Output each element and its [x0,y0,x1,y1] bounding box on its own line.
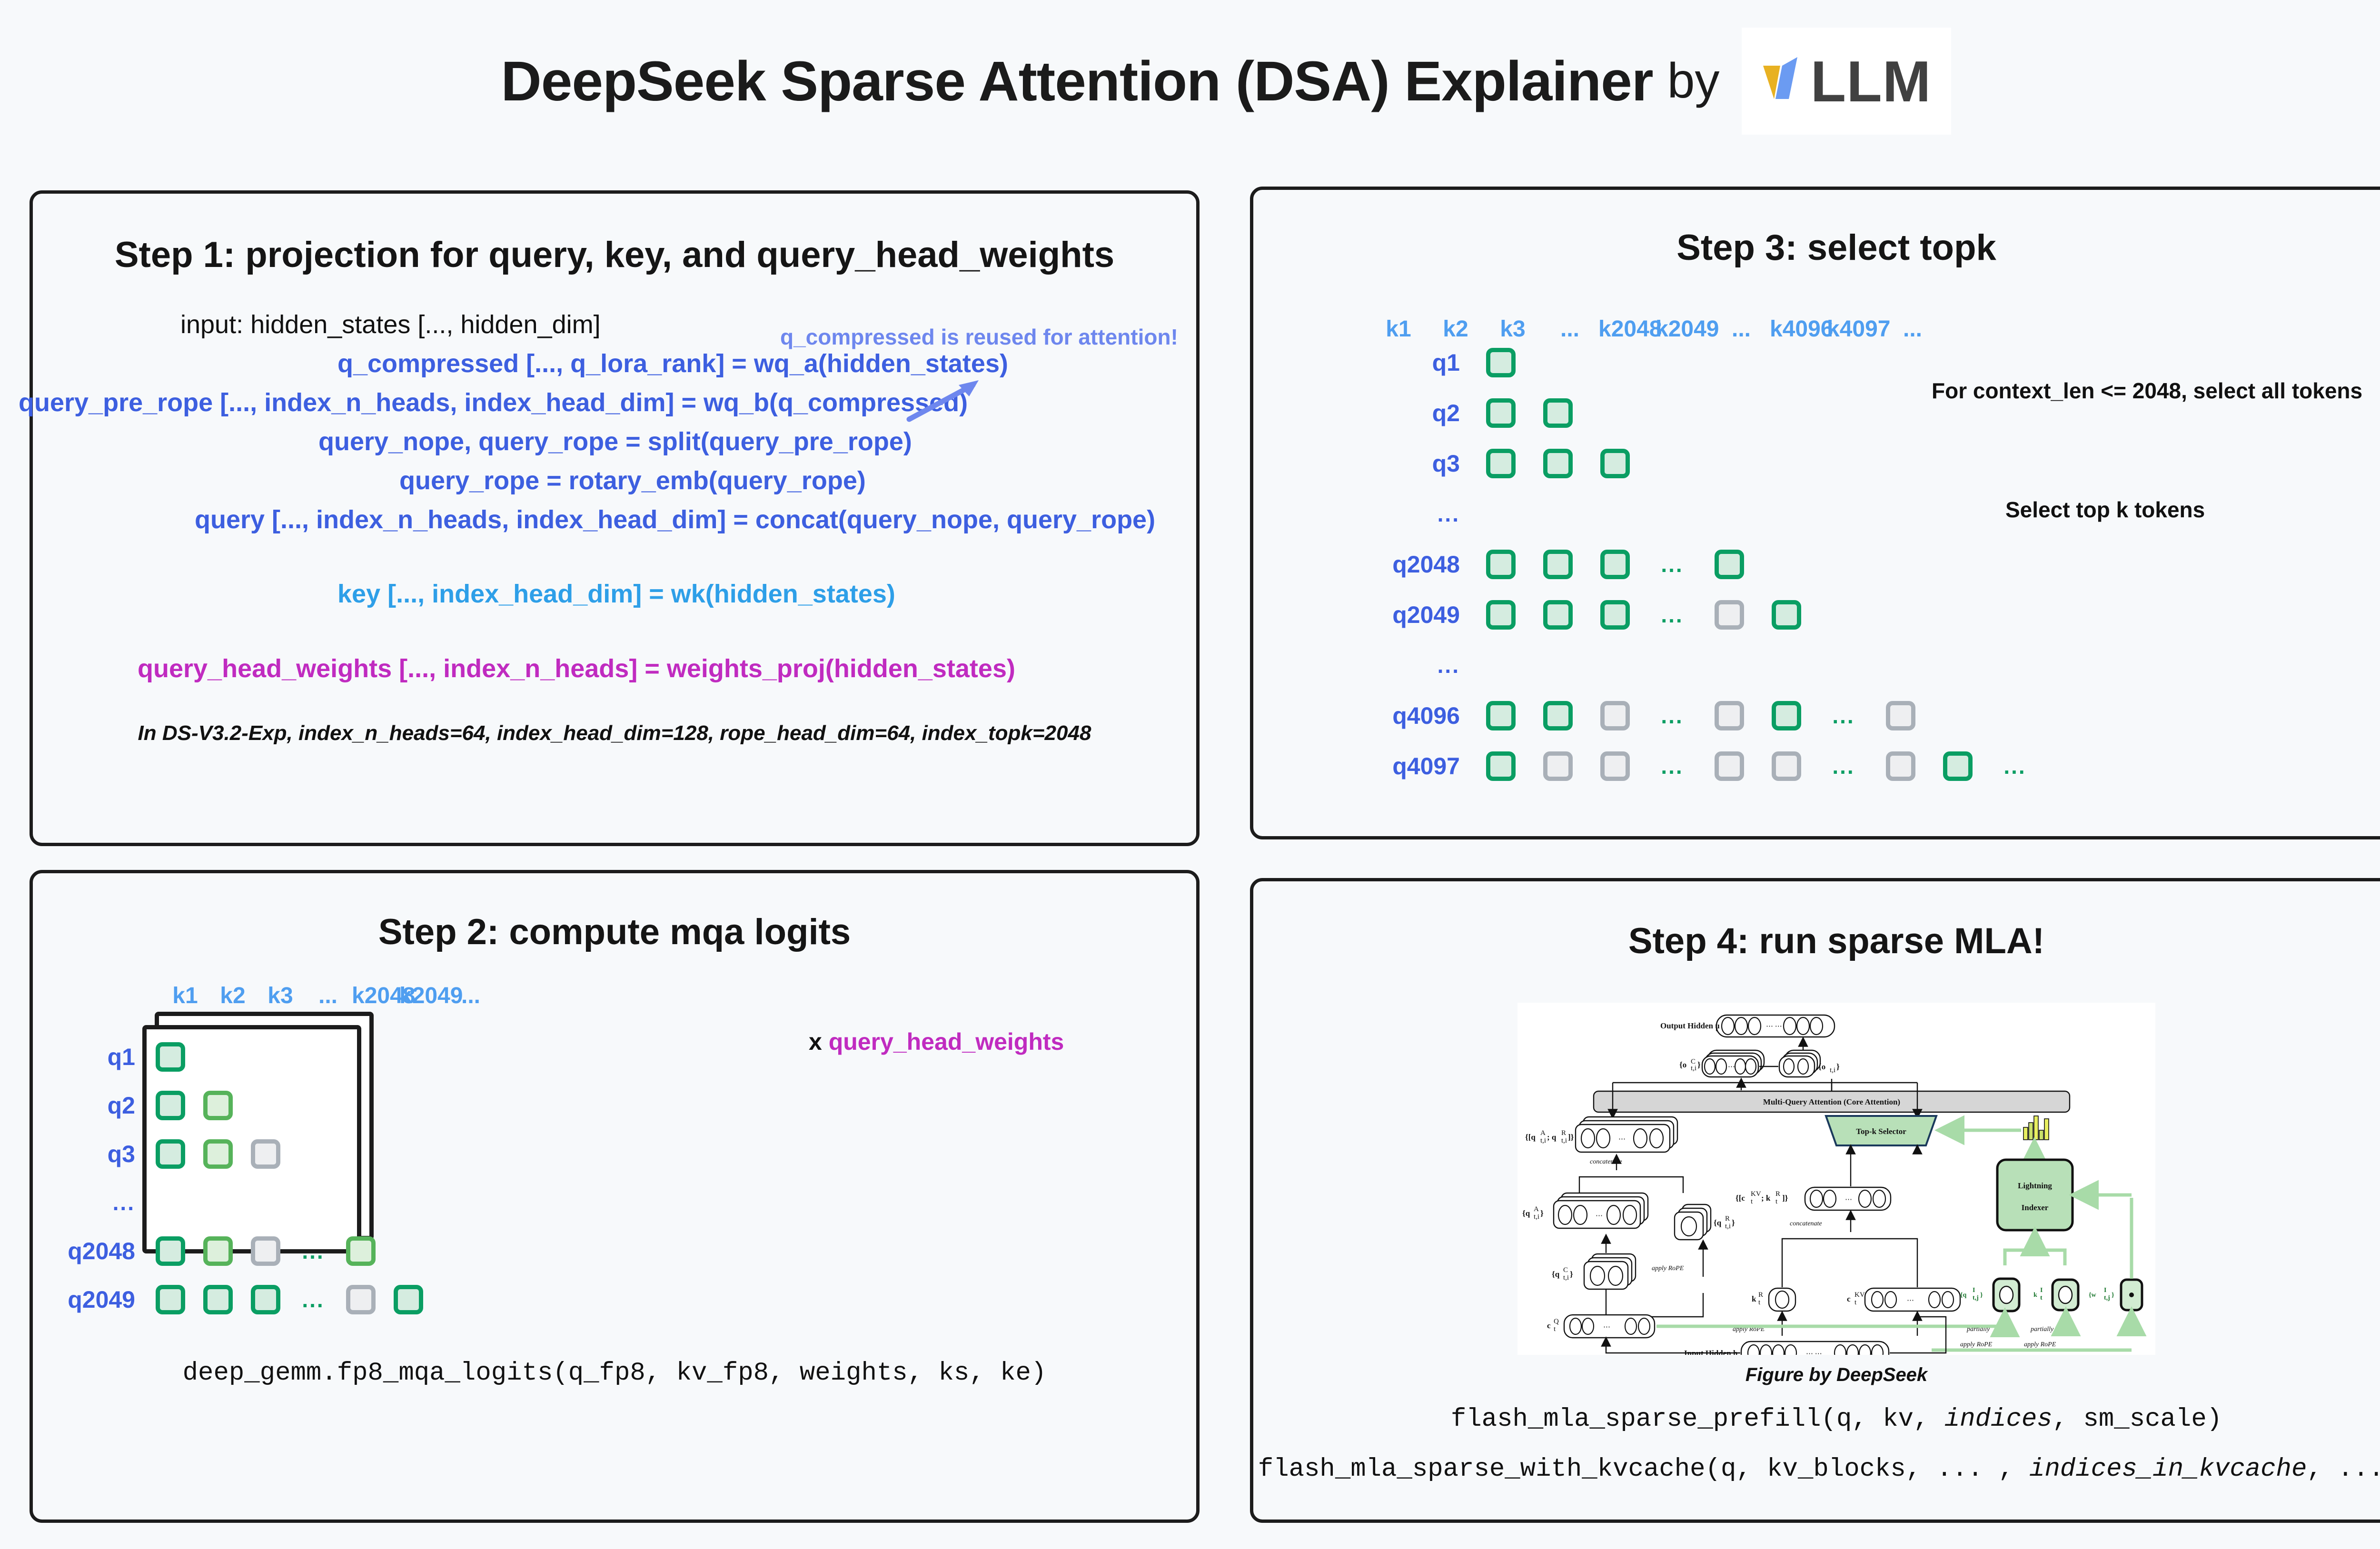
svg-text:k: k [1752,1294,1756,1303]
key-label-9: ... [1884,316,1941,342]
svg-text:R: R [1758,1291,1763,1299]
svg-text:Output Hidden u: Output Hidden u [1660,1021,1720,1030]
svg-text:⋯: ⋯ [1603,1323,1610,1331]
token-box-mid [346,1236,376,1266]
query-head-weights-label: query_head_weights [829,1028,1064,1055]
token-box-green [1772,701,1801,730]
svg-text:}: } [1732,1218,1735,1227]
step-2-token-grid: q1q2q3...q2048...q2049... [56,1038,432,1329]
lightning-indexer-label-line1: Lightning [2018,1181,2052,1190]
query-label-6: ... [1370,652,1472,678]
svg-text:{w: {w [2089,1292,2097,1299]
token-box-green [1486,751,1516,781]
token-box-green [1486,701,1516,730]
token-box-green [1600,449,1630,478]
svg-text:apply RoPE: apply RoPE [1960,1341,1993,1348]
token-box-gray [1886,751,1915,781]
key-label-3: ... [304,983,352,1009]
token-cell-gray [1701,600,1758,630]
svg-text:t: t [1775,1198,1778,1205]
token-cell-gray [1529,751,1587,781]
ellipsis-glyph: ... [2003,753,2026,779]
token-box-green [156,1042,185,1072]
svg-text:{q: {q [1552,1270,1560,1279]
panel-step-1: Step 1: projection for query, key, and q… [30,190,1200,846]
token-cell-green [1929,751,1986,781]
svg-text:{o: {o [1818,1062,1825,1071]
step-3-note-select-topk: Select top k tokens [2005,497,2205,523]
token-cell-green [147,1091,194,1120]
svg-text:k: k [2033,1292,2037,1299]
key-label-6: ... [1713,316,1770,342]
query-label-0: q1 [1370,349,1472,376]
token-row: q4097......... [1370,746,2043,787]
svg-text:⋯: ⋯ [1596,1212,1603,1220]
token-cell-green [1472,449,1529,478]
step-1-line-5: query [..., index_n_heads, index_head_di… [195,500,1196,539]
key-label-3: ... [1541,316,1598,342]
svg-text:; q: ; q [1547,1133,1557,1142]
token-cell-green [1472,550,1529,579]
token-cell-green [1529,600,1587,630]
token-cell-gray [1701,701,1758,730]
token-box-gray [1886,701,1915,730]
token-box-gray [346,1285,376,1314]
token-box-green [251,1285,280,1314]
token-box-gray [1715,751,1744,781]
page-title: DeepSeek Sparse Attention (DSA) Explaine… [501,49,1653,114]
ellipsis-glyph: ... [302,1287,324,1312]
token-box-green [1772,600,1801,630]
token-cell-ellipsis: ... [289,1238,337,1264]
token-box-green [1486,550,1516,579]
svg-text:⋯: ⋯ [1618,1135,1626,1143]
token-row: q1 [56,1038,432,1076]
token-box-green [1486,398,1516,428]
svg-text:C: C [1691,1058,1696,1066]
svg-text:t,i: t,i [1563,1274,1569,1282]
step-1-line-7: query_head_weights [..., index_n_heads] … [138,649,1196,688]
key-label-2: k3 [1484,316,1541,342]
key-label-1: k2 [209,983,257,1009]
step-1-title: Step 1: projection for query, key, and q… [33,234,1196,276]
svg-text:KV: KV [1751,1190,1761,1198]
token-box-green [1486,348,1516,377]
panel-step-3: Step 3: select topk k1k2k3...k2048k2049.… [1250,187,2380,839]
token-cell-green [1529,550,1587,579]
ellipsis-glyph: ... [302,1238,324,1264]
key-label-8: k4097 [1827,316,1884,342]
token-cell-ellipsis: ... [1644,753,1701,779]
token-box-green [1715,550,1744,579]
svg-text:{[q: {[q [1525,1133,1536,1142]
lightning-indexer-label-line2: Indexer [2022,1203,2049,1212]
svg-text:{[c: {[c [1735,1194,1745,1203]
token-box-mid [203,1091,233,1120]
token-row: ... [1370,645,2043,686]
svg-text:t,i: t,i [1725,1223,1731,1230]
token-cell-green [1758,701,1815,730]
key-label-6: ... [447,983,495,1009]
step-2-card-stack: q1q2q3...q2048...q2049... [142,1025,495,1253]
token-box-green [1543,701,1573,730]
step-1-note: q_compressed is reused for attention! [780,324,1178,350]
token-box-green [1486,600,1516,630]
ellipsis-glyph: ... [1832,753,1854,779]
step-2-card-front: q1q2q3...q2048...q2049... [142,1025,361,1253]
query-label-2: q3 [56,1140,147,1168]
ellipsis-glyph: ... [1661,602,1683,628]
reuse-arrow-icon [906,372,987,426]
token-cell-ellipsis: ... [1644,552,1701,577]
step-4-code-line-2: flash_mla_sparse_with_kvcache(q, kv_bloc… [1253,1455,2380,1484]
token-cell-green [1529,449,1587,478]
svg-text:t: t [2040,1294,2043,1302]
deepseek-figure-svg: .bx { fill:#fff; stroke:#111; stroke-wid… [1517,1003,2155,1355]
token-cell-green [1472,701,1529,730]
token-row: q3 [56,1135,432,1173]
svg-text:A: A [1534,1205,1539,1213]
svg-text:{q: {q [1714,1218,1722,1227]
step-3-title: Step 3: select topk [1253,227,2380,268]
svg-text:{o: {o [1679,1060,1686,1069]
token-box-gray [1600,751,1630,781]
svg-text:t,i: t,i [1691,1065,1696,1072]
key-label-0: k1 [1370,316,1427,342]
token-box-gray [251,1139,280,1169]
query-label-1: q2 [56,1092,147,1119]
step-1-footnote: In DS-V3.2-Exp, index_n_heads=64, index_… [33,721,1196,745]
svg-text:; k: ; k [1761,1194,1771,1203]
token-cell-green [1472,600,1529,630]
step-1-line-1: q_compressed [..., q_lora_rank] = wq_a(h… [337,344,1196,383]
step-4-title: Step 4: run sparse MLA! [1253,920,2380,962]
svg-text:A: A [1540,1129,1546,1137]
step-3-note-select-all: For context_len <= 2048, select all toke… [1932,378,2362,404]
token-cell-green [242,1285,289,1314]
svg-text:I: I [1973,1287,1975,1294]
step-1-line-2: query_pre_rope [..., index_n_heads, inde… [19,383,1196,422]
token-cell-green [194,1285,242,1314]
svg-text:c: c [1547,1321,1551,1330]
key-label-4: k2048 [352,983,399,1009]
token-cell-gray [1587,751,1644,781]
token-box-green [1543,550,1573,579]
figure-caption: Figure by DeepSeek [1253,1364,2380,1386]
token-cell-mid [194,1236,242,1266]
token-cell-green [147,1236,194,1266]
token-row: q1 [1370,342,2043,383]
svg-text:Q: Q [1554,1318,1559,1325]
svg-text:t,i: t,i [1561,1137,1567,1144]
svg-text:⋯ ⋯: ⋯ ⋯ [1766,1023,1782,1030]
token-box-gray [1715,701,1744,730]
svg-text:}: } [1980,1292,1983,1299]
step-3-key-header: k1k2k3...k2048k2049...k4096k4097... [1370,316,2043,342]
step-2-title: Step 2: compute mqa logits [33,911,1196,953]
token-box-gray [1772,751,1801,781]
token-cell-ellipsis: ... [1644,602,1701,628]
concatenate-label-1: concatenate [1590,1158,1622,1165]
token-cell-gray [242,1139,289,1169]
svg-text:t: t [1854,1299,1857,1306]
step-1-line-3: query_nope, query_rope = split(query_pre… [318,422,1196,461]
svg-text:c: c [1847,1294,1851,1303]
svg-text:}: } [1836,1062,1840,1071]
svg-text:{q: {q [1960,1292,1967,1299]
deepseek-architecture-figure: .bx { fill:#fff; stroke:#111; stroke-wid… [1517,1003,2155,1355]
step-1-code-block: input: hidden_states [..., hidden_dim] q… [33,305,1196,745]
svg-text:⋯ ⋯: ⋯ ⋯ [1806,1350,1822,1355]
header-by-label: by [1667,53,1720,109]
query-label-1: q2 [1370,399,1472,427]
svg-text:t,i: t,i [1830,1066,1835,1074]
token-cell-green [147,1285,194,1314]
step-1-line-4: query_rope = rotary_emb(query_rope) [399,461,1196,500]
svg-text:t: t [1758,1299,1761,1306]
svg-text:t,j: t,j [1973,1294,1979,1302]
ellipsis-glyph: ... [1832,703,1854,729]
svg-text:C: C [1563,1266,1568,1274]
core-attention-label: Multi-Query Attention (Core Attention) [1763,1097,1900,1106]
multiply-symbol: x [809,1028,822,1055]
token-cell-green [1529,398,1587,428]
query-label-5: q2049 [56,1286,147,1313]
token-box-green [156,1285,185,1314]
token-box-green [1600,550,1630,579]
token-cell-gray [1587,701,1644,730]
token-box-gray [1715,600,1744,630]
token-row: q2048... [1370,544,2043,585]
svg-text:]}: ]} [1568,1133,1574,1142]
ellipsis-glyph: ... [1661,703,1683,729]
token-box-green [156,1236,185,1266]
token-box-green [1543,600,1573,630]
token-cell-green [1701,550,1758,579]
token-box-gray [1543,751,1573,781]
token-cell-green [1758,600,1815,630]
token-cell-gray [1758,751,1815,781]
token-cell-mid [194,1139,242,1169]
query-label-4: q2048 [56,1237,147,1265]
svg-text:Input Hidden h: Input Hidden h [1684,1349,1738,1355]
svg-text:I: I [2104,1287,2106,1294]
ellipsis-glyph: ... [1661,552,1683,577]
svg-text:t,j: t,j [2104,1294,2110,1302]
concatenate-label-2: concatenate [1790,1220,1822,1227]
token-box-green [1543,398,1573,428]
svg-text:t: t [1554,1325,1556,1333]
step-2-code: deep_gemm.fp8_mqa_logits(q_fp8, kv_fp8, … [33,1359,1196,1388]
step-2-diagram: k1k2k3...k2048k2049... q1q2q3...q2048...… [142,983,495,1253]
token-cell-green [1472,398,1529,428]
token-cell-gray [1872,701,1929,730]
svg-text:R: R [1561,1129,1566,1137]
token-box-green [1543,449,1573,478]
query-label-8: q4097 [1370,752,1472,780]
query-label-2: q3 [1370,450,1472,477]
token-cell-ellipsis: ... [1986,753,2043,779]
token-row: q2049... [1370,594,2043,635]
token-box-mid [203,1236,233,1266]
token-row: q2049... [56,1281,432,1319]
key-label-4: k2048 [1598,316,1656,342]
step-1-line-6: key [..., index_head_dim] = wk(hidden_st… [337,574,1196,613]
token-cell-mid [194,1091,242,1120]
key-label-1: k2 [1427,316,1484,342]
token-cell-gray [337,1285,385,1314]
query-label-5: q2049 [1370,601,1472,629]
token-box-green [394,1285,423,1314]
svg-text:]}: ]} [1782,1194,1788,1203]
svg-text:t,i: t,i [1534,1213,1539,1221]
svg-text:⋯: ⋯ [1907,1297,1914,1304]
token-row: q2048... [56,1232,432,1270]
token-box-green [1600,600,1630,630]
token-cell-ellipsis: ... [289,1287,337,1312]
key-label-5: k2049 [1656,316,1713,342]
token-box-green [1943,751,1973,781]
panel-step-2: Step 2: compute mqa logits k1k2k3...k204… [30,870,1200,1523]
query-label-3: ... [1370,501,1472,527]
token-row: q4096...... [1370,695,2043,736]
key-label-7: k4096 [1770,316,1827,342]
key-label-2: k3 [257,983,304,1009]
step-2-multiply-annotation: x query_head_weights [809,1028,1064,1056]
svg-text:R: R [1725,1215,1730,1223]
vllm-logo: LLM [1742,28,1951,135]
vllm-checkmark-icon [1761,53,1805,109]
query-label-3: ... [56,1190,147,1215]
svg-text:apply RoPE: apply RoPE [2024,1341,2056,1348]
token-cell-green [1529,701,1587,730]
step-4-code-line-1: flash_mla_sparse_prefill(q, kv, indices,… [1253,1405,2380,1434]
token-box-gray [251,1236,280,1266]
token-box-green [156,1139,185,1169]
svg-text:}: } [1570,1270,1573,1279]
apply-rope-label-1: apply RoPE [1652,1265,1684,1272]
svg-text:}: } [1540,1209,1544,1218]
svg-text:R: R [1775,1190,1780,1198]
key-label-5: k2049 [399,983,447,1009]
token-box-gray [1600,701,1630,730]
token-cell-green [1587,449,1644,478]
vllm-logo-text: LLM [1811,52,1932,110]
indexer-score-histogram-icon [2023,1116,2049,1140]
svg-text:{q: {q [1522,1209,1530,1218]
explainer-page: DeepSeek Sparse Attention (DSA) Explaine… [0,0,2380,1549]
token-row: ... [56,1184,432,1222]
token-cell-green [385,1285,432,1314]
svg-text:KV: KV [1854,1291,1865,1299]
svg-text:⋯: ⋯ [1845,1196,1852,1204]
query-label-7: q4096 [1370,702,1472,730]
token-cell-green [1472,751,1529,781]
token-cell-green [147,1042,194,1072]
token-box-green [156,1091,185,1120]
token-cell-ellipsis: ... [1815,753,1872,779]
step-3-token-grid: q1q2q3...q2048...q2049......q4096......q… [1370,342,2043,787]
token-box-green [1486,449,1516,478]
token-row: ... [1370,493,2043,534]
svg-text:⋯: ⋯ [1728,1063,1735,1071]
token-cell-green [147,1139,194,1169]
svg-text:I: I [2040,1287,2043,1294]
token-cell-gray [242,1236,289,1266]
token-cell-green [1587,600,1644,630]
svg-text:t,i: t,i [1540,1137,1546,1144]
token-cell-green [1587,550,1644,579]
svg-text:partially: partially [2030,1326,2054,1333]
token-row: q2 [56,1086,432,1125]
ellipsis-glyph: ... [1661,753,1683,779]
svg-text:}: } [2112,1292,2114,1299]
token-cell-green [1472,348,1529,377]
token-box-green [203,1285,233,1314]
svg-text:t: t [1751,1198,1753,1205]
page-header: DeepSeek Sparse Attention (DSA) Explaine… [0,28,2380,135]
token-cell-ellipsis: ... [1815,703,1872,729]
token-cell-ellipsis: ... [1644,703,1701,729]
panel-step-4: Step 4: run sparse MLA! .bx { fill:#fff;… [1250,878,2380,1523]
svg-text:}: } [1697,1060,1701,1069]
topk-selector-label: Top-k Selector [1856,1127,1906,1136]
query-label-4: q2048 [1370,551,1472,578]
token-row: q3 [1370,443,2043,484]
step-2-key-header: k1k2k3...k2048k2049... [161,983,495,1009]
token-cell-gray [1701,751,1758,781]
query-label-0: q1 [56,1043,147,1071]
token-cell-gray [1872,751,1929,781]
token-box-mid [203,1139,233,1169]
token-cell-mid [337,1236,385,1266]
key-label-0: k1 [161,983,209,1009]
